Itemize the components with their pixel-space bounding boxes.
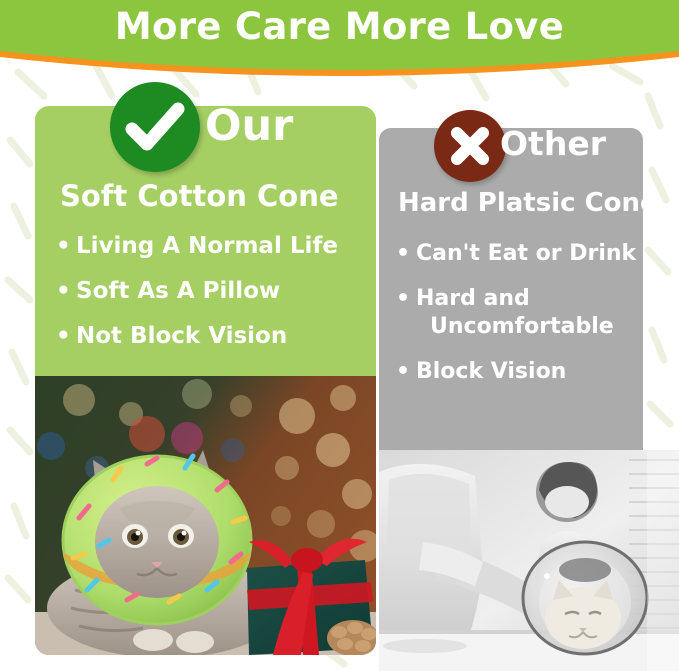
cross-badge	[434, 110, 506, 182]
bullet-marker: •	[396, 240, 410, 268]
bullet-marker: •	[56, 232, 71, 260]
bullet-marker: •	[396, 285, 410, 313]
list-item: • Not Block Vision	[56, 322, 366, 350]
our-benefit-list: • Living A Normal Life • Soft As A Pillo…	[56, 232, 366, 367]
list-item: • Can't Eat or Drink	[396, 240, 646, 268]
list-item: • Living A Normal Life	[56, 232, 366, 260]
list-item-label: Can't Eat or Drink	[416, 241, 636, 266]
page-title: More Care More Love	[0, 2, 679, 52]
our-product-photo	[35, 376, 376, 655]
other-subtitle: Hard Platsic Cone	[398, 186, 658, 220]
our-heading: Our	[205, 100, 293, 152]
our-subtitle: Soft Cotton Cone	[60, 178, 339, 214]
list-item-label-line2: Uncomfortable	[416, 313, 646, 341]
bullet-marker: •	[56, 322, 71, 350]
list-item: • Soft As A Pillow	[56, 277, 366, 305]
list-item-label: Hard and	[416, 286, 530, 311]
check-badge	[110, 82, 200, 172]
list-item: • Hard and Uncomfortable	[396, 285, 646, 341]
check-icon	[110, 82, 200, 172]
list-item: • Block Vision	[396, 358, 646, 386]
other-heading: Other	[500, 124, 606, 164]
list-item-label: Block Vision	[416, 359, 566, 384]
list-item-label: Soft As A Pillow	[76, 278, 280, 304]
list-item-label: Not Block Vision	[76, 323, 287, 349]
product-comparison-infographic: More Care More Love Other Hard Platsic C…	[0, 0, 679, 671]
other-product-photo	[379, 450, 679, 671]
bullet-marker: •	[396, 358, 410, 386]
cross-icon	[434, 110, 506, 182]
bullet-marker: •	[56, 277, 71, 305]
list-item-label: Living A Normal Life	[76, 233, 338, 259]
other-benefit-list: • Can't Eat or Drink • Hard and Uncomfor…	[396, 240, 646, 403]
